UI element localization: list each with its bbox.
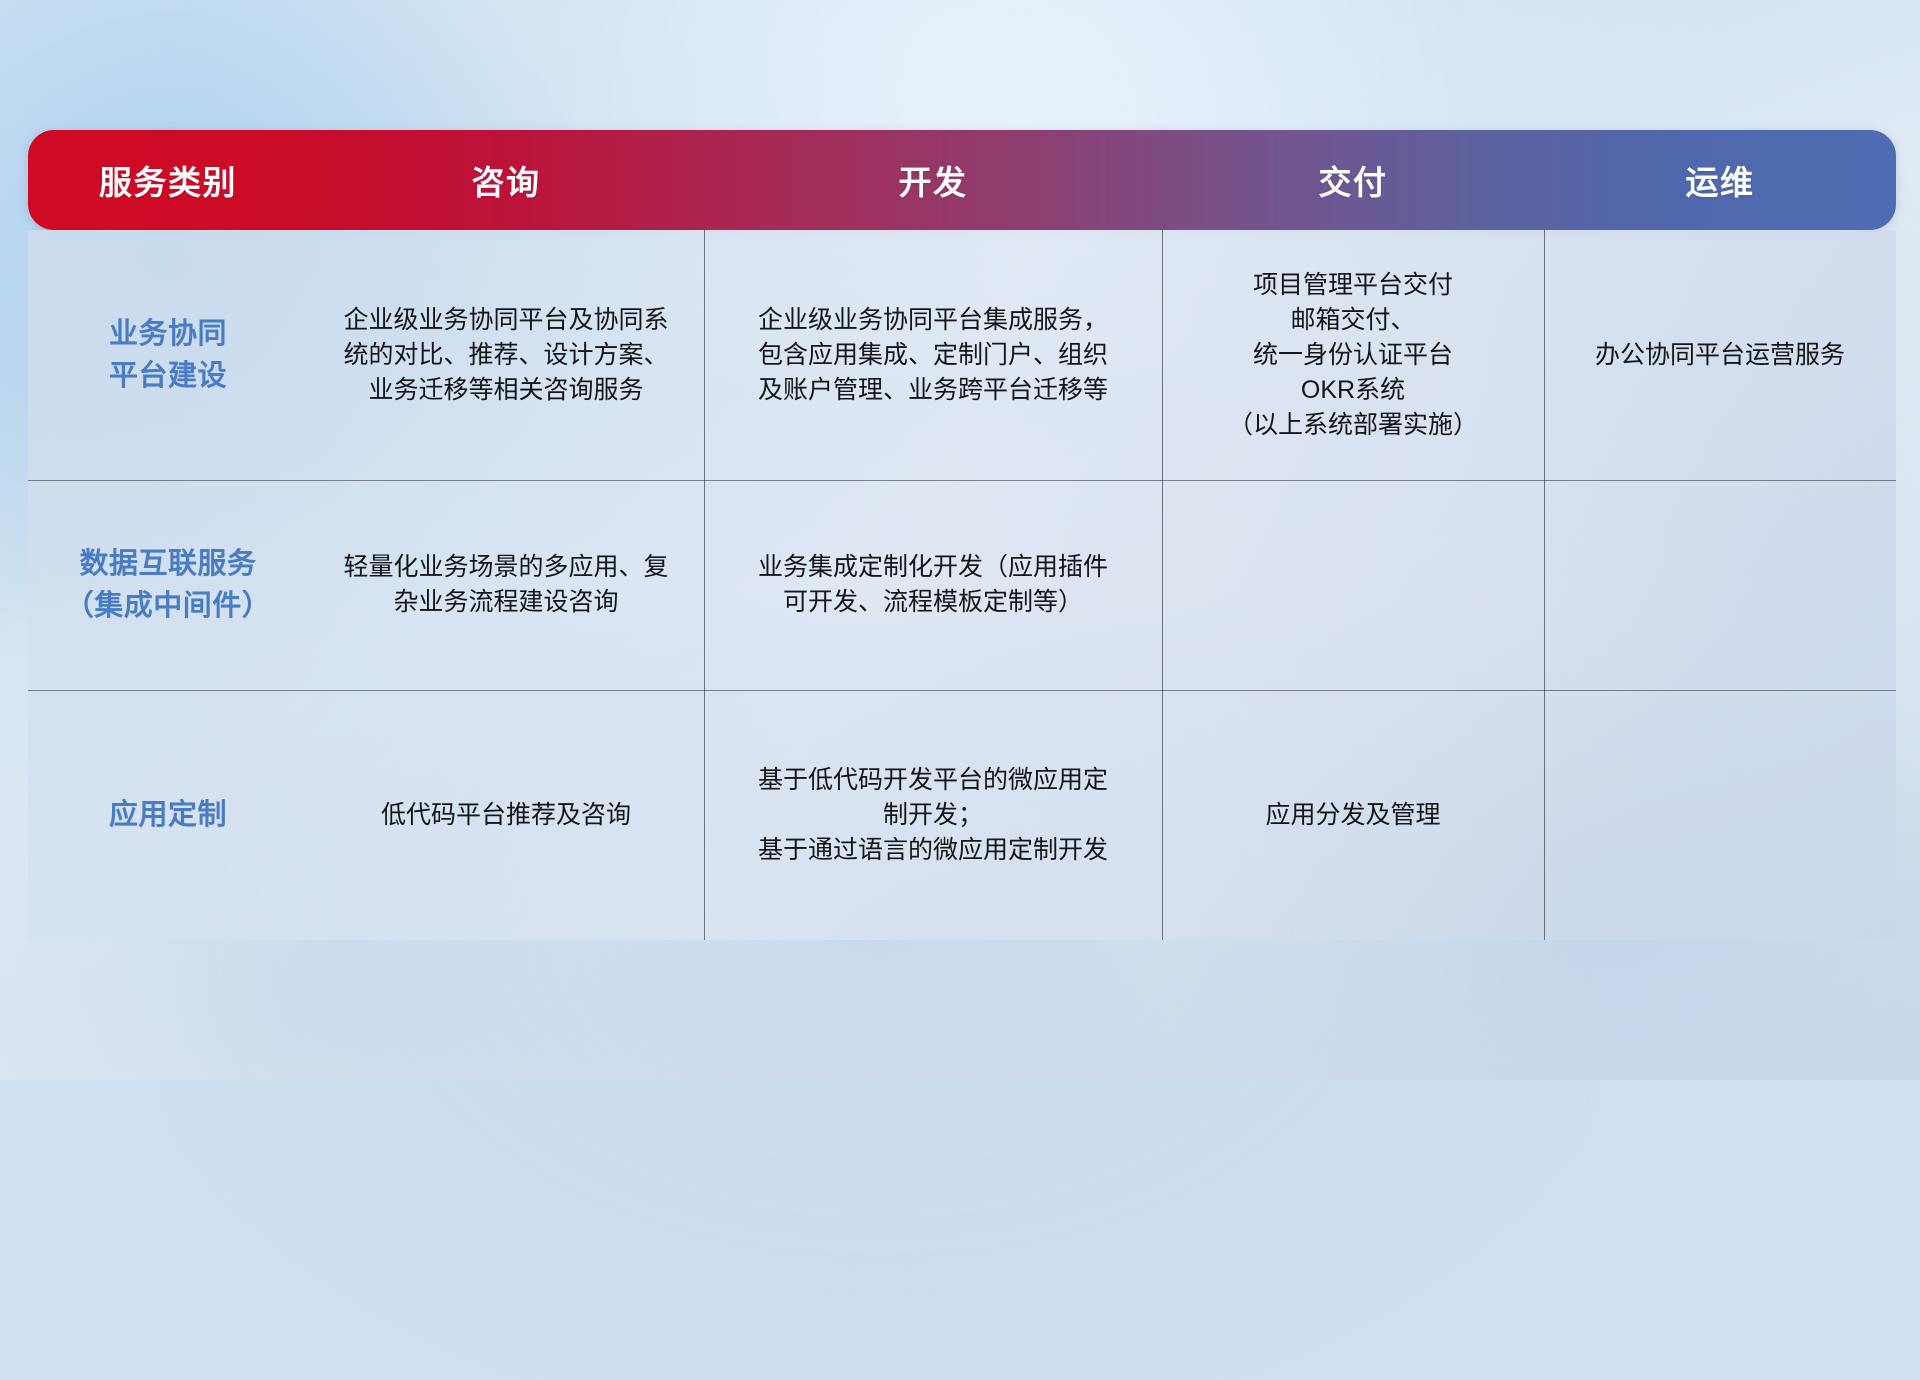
cell-text: 基于低代码开发平台的微应用定 制开发； 基于通过语言的微应用定制开发: [758, 763, 1108, 868]
cell-operations: [1544, 690, 1896, 940]
table-row: 应用定制 低代码平台推荐及咨询 基于低代码开发平台的微应用定 制开发； 基于通过…: [28, 690, 1896, 940]
cell-text: 企业级业务协同平台集成服务， 包含应用集成、定制门户、组织 及账户管理、业务跨平…: [758, 303, 1108, 408]
cell-delivery: 应用分发及管理: [1162, 690, 1544, 940]
table-row: 业务协同 平台建设 企业级业务协同平台及协同系 统的对比、推荐、设计方案、 业务…: [28, 230, 1896, 480]
column-header-operations: 运维: [1544, 130, 1896, 230]
row-category-cell: 应用定制: [28, 690, 308, 940]
service-matrix-table: 服务类别 咨询 开发 交付 运维 业务协同 平台建设 企业级业务协同平台及协同系…: [28, 130, 1896, 940]
cell-development: 基于低代码开发平台的微应用定 制开发； 基于通过语言的微应用定制开发: [704, 690, 1162, 940]
row-category-label: 数据互联服务 （集成中间件）: [65, 543, 272, 627]
cell-consulting: 低代码平台推荐及咨询: [308, 690, 704, 940]
cell-text: 企业级业务协同平台及协同系 统的对比、推荐、设计方案、 业务迁移等相关咨询服务: [343, 303, 668, 408]
row-category-label: 应用定制: [109, 794, 227, 836]
table-body: 业务协同 平台建设 企业级业务协同平台及协同系 统的对比、推荐、设计方案、 业务…: [28, 230, 1896, 940]
cell-development: 业务集成定制化开发（应用插件 可开发、流程模板定制等）: [704, 480, 1162, 690]
column-header-development: 开发: [704, 130, 1162, 230]
column-header-consulting: 咨询: [308, 130, 704, 230]
cell-consulting: 企业级业务协同平台及协同系 统的对比、推荐、设计方案、 业务迁移等相关咨询服务: [308, 230, 704, 480]
column-header-service-category: 服务类别: [28, 130, 308, 230]
cell-development: 企业级业务协同平台集成服务， 包含应用集成、定制门户、组织 及账户管理、业务跨平…: [704, 230, 1162, 480]
table-row: 数据互联服务 （集成中间件） 轻量化业务场景的多应用、复 杂业务流程建设咨询 业…: [28, 480, 1896, 690]
cell-operations: [1544, 480, 1896, 690]
row-category-cell: 业务协同 平台建设: [28, 230, 308, 480]
cell-delivery: 项目管理平台交付 邮箱交付、 统一身份认证平台 OKR系统 （以上系统部署实施）: [1162, 230, 1544, 480]
cell-text: 项目管理平台交付 邮箱交付、 统一身份认证平台 OKR系统 （以上系统部署实施）: [1228, 268, 1478, 443]
cell-text: 轻量化业务场景的多应用、复 杂业务流程建设咨询: [343, 550, 668, 620]
cell-text: 低代码平台推荐及咨询: [381, 798, 631, 833]
cell-delivery: [1162, 480, 1544, 690]
row-category-cell: 数据互联服务 （集成中间件）: [28, 480, 308, 690]
cell-consulting: 轻量化业务场景的多应用、复 杂业务流程建设咨询: [308, 480, 704, 690]
cell-text: 办公协同平台运营服务: [1595, 338, 1845, 373]
row-category-label: 业务协同 平台建设: [109, 313, 227, 397]
cell-text: 应用分发及管理: [1265, 798, 1440, 833]
table-header-row: 服务类别 咨询 开发 交付 运维: [28, 130, 1896, 230]
cell-operations: 办公协同平台运营服务: [1544, 230, 1896, 480]
cell-text: 业务集成定制化开发（应用插件 可开发、流程模板定制等）: [758, 550, 1108, 620]
column-header-delivery: 交付: [1162, 130, 1544, 230]
